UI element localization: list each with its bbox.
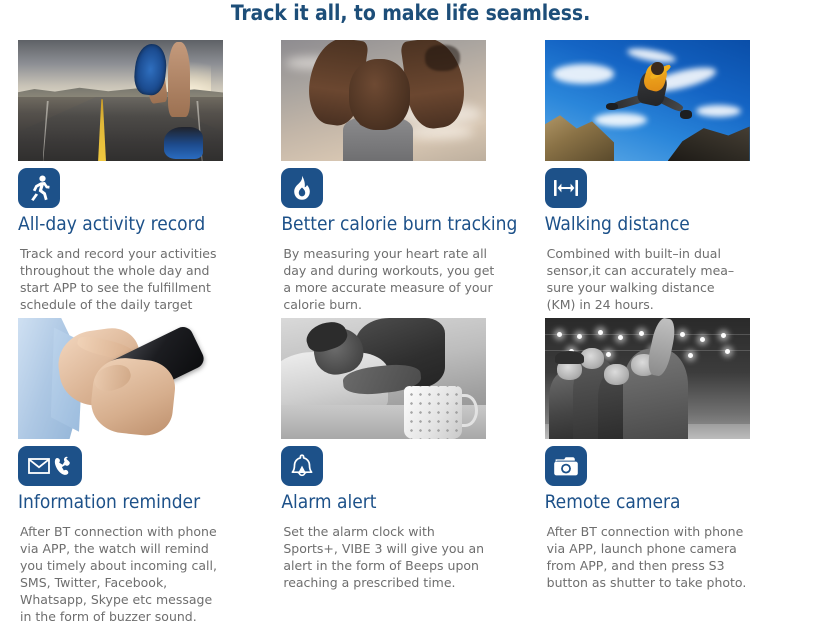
feature-card-walking-distance: Walking distance Combined with built–in … bbox=[545, 40, 808, 313]
feature-body: After BT connection with phone via APP, … bbox=[20, 523, 232, 625]
flame-icon bbox=[281, 168, 323, 208]
feature-body: After BT connection with phone via APP, … bbox=[547, 523, 759, 591]
feature-card-information-reminder: Information reminder After BT connection… bbox=[18, 318, 281, 625]
friends-taking-selfie-photo bbox=[545, 318, 750, 439]
feature-card-alarm-alert: Alarm alert Set the alarm clock with Spo… bbox=[281, 318, 544, 625]
feature-card-activity-record: All-day activity record Track and record… bbox=[18, 40, 281, 313]
features-row-2: Information reminder After BT connection… bbox=[18, 318, 808, 625]
runner-on-road-photo bbox=[18, 40, 223, 161]
feature-title: Information reminder bbox=[18, 491, 281, 514]
feature-card-calorie-burn: Better calorie burn tracking By measurin… bbox=[281, 40, 544, 313]
feature-title: Walking distance bbox=[545, 213, 808, 236]
feature-title: Better calorie burn tracking bbox=[281, 213, 544, 236]
man-stretching-photo bbox=[281, 40, 486, 161]
camera-icon bbox=[545, 446, 587, 486]
feature-title: Alarm alert bbox=[281, 491, 544, 514]
feature-grid-page: Track it all, to make life seamless. bbox=[0, 0, 821, 643]
feature-body: Set the alarm clock with Sports+, VIBE 3… bbox=[283, 523, 495, 591]
page-title: Track it all, to make life seamless. bbox=[0, 0, 821, 26]
feature-body: Track and record your activities through… bbox=[20, 245, 232, 313]
distance-measure-icon bbox=[545, 168, 587, 208]
feature-card-remote-camera: Remote camera After BT connection with p… bbox=[545, 318, 808, 625]
person-jumping-cliff-photo bbox=[545, 40, 750, 161]
features-grid: All-day activity record Track and record… bbox=[18, 40, 808, 625]
envelope-and-phone-icon bbox=[18, 446, 82, 486]
feature-title: Remote camera bbox=[545, 491, 808, 514]
features-row-1: All-day activity record Track and record… bbox=[18, 40, 808, 313]
feature-body: By measuring your heart rate all day and… bbox=[283, 245, 495, 313]
running-person-icon bbox=[18, 168, 60, 208]
feature-title: All-day activity record bbox=[18, 213, 281, 236]
bell-icon bbox=[281, 446, 323, 486]
person-sleeping-photo bbox=[281, 318, 486, 439]
hand-holding-smartphone-photo bbox=[18, 318, 223, 439]
feature-body: Combined with built–in dual sensor,it ca… bbox=[547, 245, 759, 313]
